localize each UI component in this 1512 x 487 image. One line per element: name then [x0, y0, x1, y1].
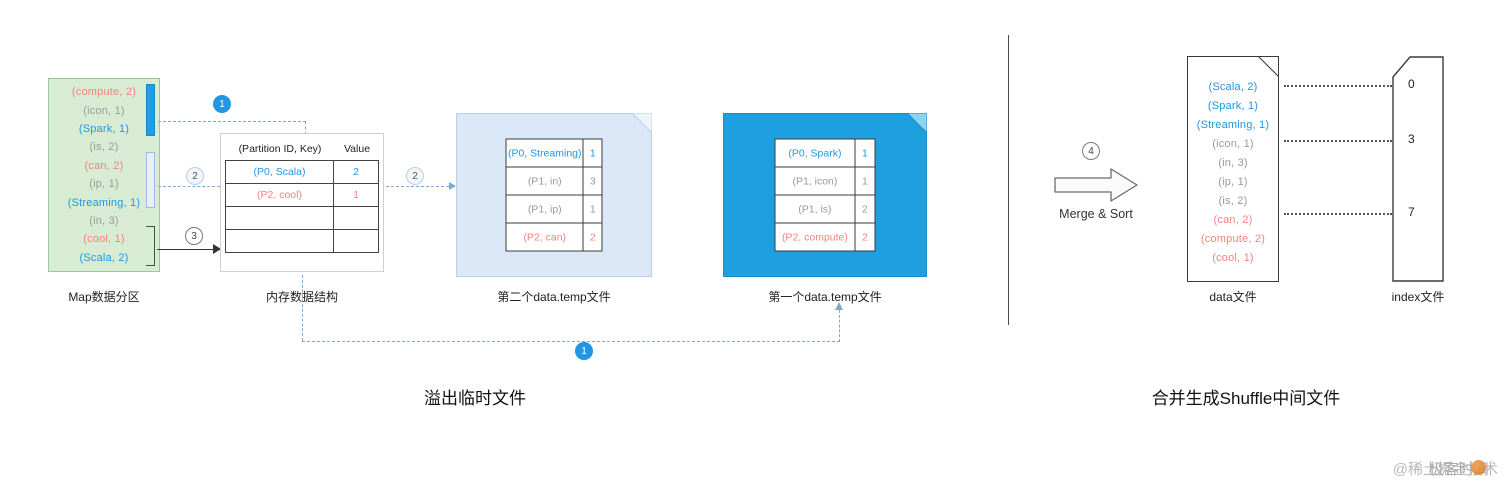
- diagram-canvas: (compute, 2)(icon, 1)(Spark, 1)(is, 2)(c…: [0, 0, 1512, 487]
- feedback-loop-h: [302, 341, 840, 342]
- mem-struct-header-key: (Partition ID, Key): [225, 143, 335, 155]
- spill-marker-filled: [146, 84, 155, 136]
- mem-struct-value-cell: [334, 230, 379, 253]
- first-temp-value-cell: 2: [855, 195, 875, 223]
- index-connector-1: [1284, 140, 1392, 142]
- first-temp-value-cell: 1: [855, 167, 875, 195]
- mem-struct-key-cell: (P0, Scala): [226, 161, 334, 184]
- table-row: (P0, Streaming)1: [506, 139, 602, 167]
- index-offset-0: 0: [1408, 77, 1415, 91]
- connector-spill-1-h: [158, 121, 306, 122]
- merge-sort-label: Merge & Sort: [1036, 207, 1156, 221]
- second-temp-value-cell: 1: [583, 139, 602, 167]
- mem-struct-value-cell: 1: [334, 184, 379, 207]
- feedback-loop-arrowhead: [835, 302, 843, 310]
- data-file-caption: data文件: [1157, 288, 1309, 305]
- mem-struct-key-cell: [226, 230, 334, 253]
- data-file-entry: (is, 2): [1219, 193, 1248, 210]
- second-temp-file-panel: (P0, Streaming)1(P1, in)3(P1, ip)1(P2, c…: [456, 113, 652, 277]
- map-partition-entry: (Streaming, 1): [68, 197, 141, 209]
- spill-marker-open: [146, 152, 155, 208]
- index-offset-1: 3: [1408, 132, 1415, 146]
- second-temp-key-cell: (P1, ip): [506, 195, 583, 223]
- mem-struct-key-cell: (P2, cool): [226, 184, 334, 207]
- data-file-entry: (icon, 1): [1212, 136, 1254, 153]
- first-temp-key-cell: (P1, icon): [775, 167, 855, 195]
- first-temp-value-cell: 2: [855, 223, 875, 251]
- page-fold-outline-icon: [1258, 56, 1279, 77]
- first-temp-file-panel: (P0, Spark)1(P1, icon)1(P1, is)2(P2, com…: [723, 113, 927, 277]
- table-row: (P0, Scala)2: [226, 161, 379, 184]
- watermark-logo-icon: [1471, 460, 1486, 475]
- table-row: (P2, compute)2: [775, 223, 875, 251]
- data-file-entry: (can, 2): [1214, 212, 1253, 229]
- data-file-entry: (Spark, 1): [1208, 98, 1258, 115]
- feedback-loop-right-v: [839, 310, 840, 342]
- mem-struct-key-cell: [226, 207, 334, 230]
- first-temp-value-cell: 1: [855, 139, 875, 167]
- remaining-records-bracket: [146, 226, 155, 266]
- first-temp-key-cell: (P2, compute): [775, 223, 855, 251]
- first-temp-file-table-wrap: (P0, Spark)1(P1, icon)1(P1, is)2(P2, com…: [775, 139, 876, 252]
- step-badge-1-bottom: 1: [575, 342, 593, 360]
- second-temp-file-table-wrap: (P0, Streaming)1(P1, in)3(P1, ip)1(P2, c…: [506, 139, 603, 252]
- table-row: (P1, is)2: [775, 195, 875, 223]
- step-badge-2-right: 2: [406, 167, 424, 185]
- section-divider: [1008, 35, 1009, 325]
- mem-struct-header-value: Value: [335, 143, 379, 155]
- in-memory-data-structure: (Partition ID, Key) Value (P0, Scala)2(P…: [220, 133, 384, 272]
- second-temp-key-cell: (P2, can): [506, 223, 583, 251]
- first-temp-file-caption: 第一个data.temp文件: [723, 288, 927, 305]
- index-connector-0: [1284, 85, 1392, 87]
- table-row: [226, 230, 379, 253]
- first-temp-key-cell: (P1, is): [775, 195, 855, 223]
- step-badge-3: 3: [185, 227, 203, 245]
- page-fold-icon: [632, 113, 652, 133]
- data-file-entry-list: (Scala, 2)(Spark, 1)(Streaming, 1)(icon,…: [1188, 79, 1278, 267]
- second-temp-file-caption: 第二个data.temp文件: [456, 288, 652, 305]
- table-row: (P2, can)2: [506, 223, 602, 251]
- second-temp-value-cell: 3: [583, 167, 602, 195]
- map-partition-entry: (icon, 1): [83, 105, 125, 117]
- map-partition-entry-list: (compute, 2)(icon, 1)(Spark, 1)(is, 2)(c…: [49, 79, 159, 271]
- index-offset-2: 7: [1408, 205, 1415, 219]
- second-temp-value-cell: 2: [583, 223, 602, 251]
- mem-struct-header-row: (Partition ID, Key) Value: [225, 138, 379, 160]
- left-section-title: 溢出临时文件: [325, 384, 625, 409]
- step-badge-2-left: 2: [186, 167, 204, 185]
- map-partition-entry: (Spark, 1): [79, 123, 129, 135]
- first-temp-file-table: (P0, Spark)1(P1, icon)1(P1, is)2(P2, com…: [775, 139, 876, 252]
- connector-spill-2-right: [386, 186, 454, 187]
- mem-struct-value-cell: 2: [334, 161, 379, 184]
- data-file-shape: (Scala, 2)(Spark, 1)(Streaming, 1)(icon,…: [1187, 56, 1279, 282]
- mem-struct-table: (P0, Scala)2(P2, cool)1: [225, 160, 379, 253]
- mem-struct-value-cell: [334, 207, 379, 230]
- table-row: (P1, ip)1: [506, 195, 602, 223]
- map-partition-box: (compute, 2)(icon, 1)(Spark, 1)(is, 2)(c…: [48, 78, 160, 272]
- index-file-shape: [1392, 56, 1444, 282]
- data-file-entry: (Scala, 2): [1208, 79, 1257, 96]
- map-partition-entry: (ip, 1): [89, 178, 119, 190]
- data-file-entry: (compute, 2): [1201, 231, 1265, 248]
- table-row: [226, 207, 379, 230]
- map-partition-entry: (cool, 1): [83, 233, 125, 245]
- step-badge-1-top: 1: [213, 95, 231, 113]
- data-file-entry: (cool, 1): [1212, 250, 1254, 267]
- index-connector-2: [1284, 213, 1392, 215]
- table-row: (P1, icon)1: [775, 167, 875, 195]
- connector-step3-line: [157, 249, 219, 250]
- data-file-entry: (ip, 1): [1218, 174, 1248, 191]
- feedback-loop-left-v: [302, 275, 303, 341]
- map-partition-caption: Map数据分区: [28, 288, 180, 305]
- second-temp-value-cell: 1: [583, 195, 602, 223]
- connector-spill-2-arrowhead: [449, 182, 456, 190]
- table-row: (P2, cool)1: [226, 184, 379, 207]
- watermark: @稀土掘金技术 极客时间: [1393, 458, 1498, 479]
- data-file-entry: (in, 3): [1218, 155, 1248, 172]
- right-section-title: 合并生成Shuffle中间文件: [1096, 384, 1396, 409]
- second-temp-key-cell: (P1, in): [506, 167, 583, 195]
- table-row: (P1, in)3: [506, 167, 602, 195]
- connector-spill-2-left: [158, 186, 220, 187]
- merge-sort-arrow-icon: [1053, 167, 1139, 203]
- index-file-caption: index文件: [1356, 288, 1480, 305]
- map-partition-entry: (is, 2): [90, 141, 119, 153]
- step-badge-4: 4: [1082, 142, 1100, 160]
- map-partition-entry: (Scala, 2): [79, 252, 128, 264]
- map-partition-entry: (compute, 2): [72, 86, 136, 98]
- map-partition-entry: (in, 3): [89, 215, 119, 227]
- second-temp-key-cell: (P0, Streaming): [506, 139, 583, 167]
- table-row: (P0, Spark)1: [775, 139, 875, 167]
- first-temp-key-cell: (P0, Spark): [775, 139, 855, 167]
- second-temp-file-table: (P0, Streaming)1(P1, in)3(P1, ip)1(P2, c…: [506, 139, 603, 252]
- page-fold-icon: [907, 113, 927, 133]
- map-partition-entry: (can, 2): [85, 160, 124, 172]
- data-file-entry: (Streaming, 1): [1197, 117, 1270, 134]
